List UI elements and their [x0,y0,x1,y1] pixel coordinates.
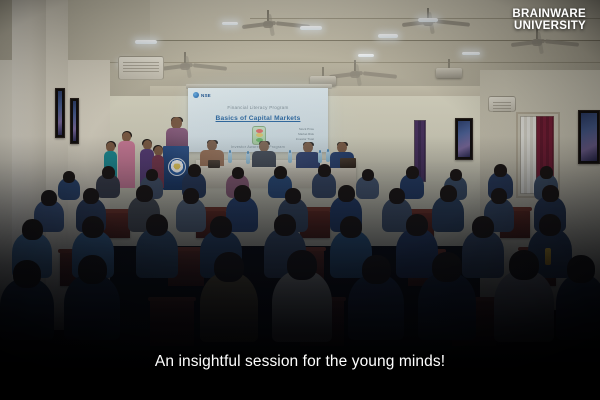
audience-member [418,272,476,340]
tube-light [378,34,398,38]
audience-member [272,270,332,342]
signal-label-2: Market Risk [298,132,314,136]
tube-light [300,26,322,30]
framed-artwork [578,110,600,164]
tube-light [222,22,238,25]
photo-caption: An insightful session for the young mind… [0,353,600,371]
audience-member [348,274,404,340]
audience-member [176,198,206,232]
nse-logo-text: NSE [201,93,211,98]
wall-speaker-unit [118,56,164,80]
framed-artwork [70,98,79,144]
tube-light [462,52,480,55]
audience-member [494,270,554,342]
audience-member [200,272,258,342]
wall-ac-unit [488,96,516,112]
slide-subtitle: Financial Literacy Program [188,105,328,110]
audience-member [96,174,120,198]
slide-title: Basics of Capital Markets [188,115,328,122]
framed-artwork [55,88,65,138]
signal-red-icon [256,129,263,133]
ceiling-seam [90,62,600,63]
audience-member [136,228,178,278]
framed-artwork [455,118,473,160]
ceiling-projector [436,68,462,78]
audience-member [58,178,80,200]
speaker-person [166,117,188,149]
signal-label-3: Investor Trust [296,137,314,141]
audience-member [64,274,120,340]
audience-member [0,278,54,340]
auditorium-room: NSE Financial Literacy Program Basics of… [0,0,600,400]
brainware-university-logo: BRAINWARE UNIVERSITY [512,9,586,32]
yellow-water-bottle [545,248,551,265]
nse-mark-icon [193,92,199,98]
audience-member [432,196,464,232]
logo-line-1: BRAINWARE [512,8,586,20]
tube-light [135,40,157,44]
logo-line-2: UNIVERSITY [512,21,586,33]
auditorium-chair [150,300,194,346]
audience-member [556,274,600,340]
auditorium-photo: NSE Financial Literacy Program Basics of… [0,0,600,400]
tube-light [358,54,374,57]
tube-light [418,18,438,22]
signal-label-1: Stock Price [299,127,314,131]
nse-logo: NSE [193,92,211,98]
signal-amber-icon [256,133,263,137]
audience-member [312,172,336,198]
